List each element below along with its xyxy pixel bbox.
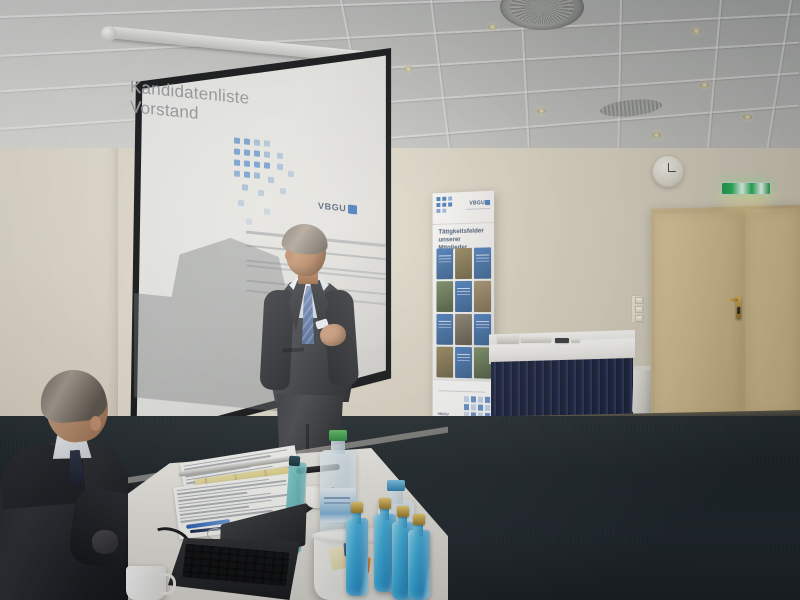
- banner-cell: [474, 281, 491, 312]
- conference-room-photo: Kandidatenliste Vorstand: [0, 0, 800, 600]
- buffet-items: [497, 332, 587, 344]
- door-handle[interactable]: [736, 297, 741, 320]
- wall-clock: [652, 155, 684, 187]
- ceiling-spotlight: [700, 82, 709, 88]
- light-switch[interactable]: [635, 306, 643, 313]
- bottle-cap: [379, 498, 391, 509]
- light-switch-panel[interactable]: [631, 295, 644, 323]
- ceiling-vent-strip: [599, 97, 662, 119]
- ceiling-spotlight: [652, 132, 661, 138]
- banner-cell: [436, 248, 453, 279]
- double-door: [651, 205, 800, 426]
- banner-cell: [436, 347, 453, 378]
- exit-sign-glow: [712, 192, 782, 218]
- ceiling-spotlight: [743, 114, 752, 120]
- buffet-table: [489, 330, 635, 426]
- banner-cell: [455, 281, 472, 312]
- laptop-computer[interactable]: [168, 532, 304, 600]
- attendee-hand: [92, 530, 118, 554]
- waste-bin: [632, 366, 653, 414]
- ceiling-air-diffuser: [500, 0, 584, 30]
- presenter-ear: [285, 250, 293, 261]
- banner-vbgu-wordmark: VBGU: [469, 200, 485, 207]
- screen-roller-cap: [100, 25, 117, 41]
- attendee-arm: [67, 486, 133, 569]
- ceiling-spotlight: [692, 28, 701, 34]
- bottle-cap: [397, 506, 409, 517]
- bottle-cap: [329, 430, 347, 441]
- banner-header: VBGU: [433, 191, 495, 225]
- banner-footer-rule: [438, 390, 486, 393]
- banner-image-grid: [436, 247, 491, 378]
- door-leaf-right[interactable]: [745, 208, 800, 417]
- banner-cell: [455, 314, 472, 345]
- teal-bottle-cap: [289, 456, 301, 467]
- banner-cell: [455, 347, 472, 378]
- door-leaf-left[interactable]: [655, 212, 742, 420]
- banner-cell: [474, 247, 491, 279]
- banner-vbgu-logo: VBGU: [469, 200, 490, 207]
- slide-title: Kandidatenliste Vorstand: [130, 77, 249, 129]
- rollup-banner: VBGU Tätigkeitsfelder unserer Mitglieder: [433, 191, 495, 426]
- light-switch[interactable]: [635, 297, 643, 304]
- light-switch[interactable]: [635, 315, 643, 322]
- blue-glass-bottle[interactable]: [346, 518, 368, 596]
- bottle-cap: [387, 480, 405, 491]
- banner-cell: [436, 281, 453, 312]
- banner-dot-graphic: [436, 196, 458, 219]
- ceiling-spotlight: [537, 108, 546, 114]
- attendee-ear: [90, 416, 101, 431]
- slide-vbgu-square-icon: [348, 204, 357, 214]
- coffee-mug[interactable]: [126, 566, 166, 600]
- banner-cell: [455, 248, 472, 279]
- banner-cell: [436, 314, 453, 345]
- ceiling-spotlight: [488, 24, 497, 30]
- blue-glass-bottle[interactable]: [408, 530, 430, 600]
- ceiling-spotlight: [404, 66, 413, 72]
- banner-rule: [466, 208, 490, 210]
- bottle-cap: [413, 514, 425, 525]
- emergency-exit-sign: [721, 182, 771, 195]
- bottle-cap: [351, 502, 363, 513]
